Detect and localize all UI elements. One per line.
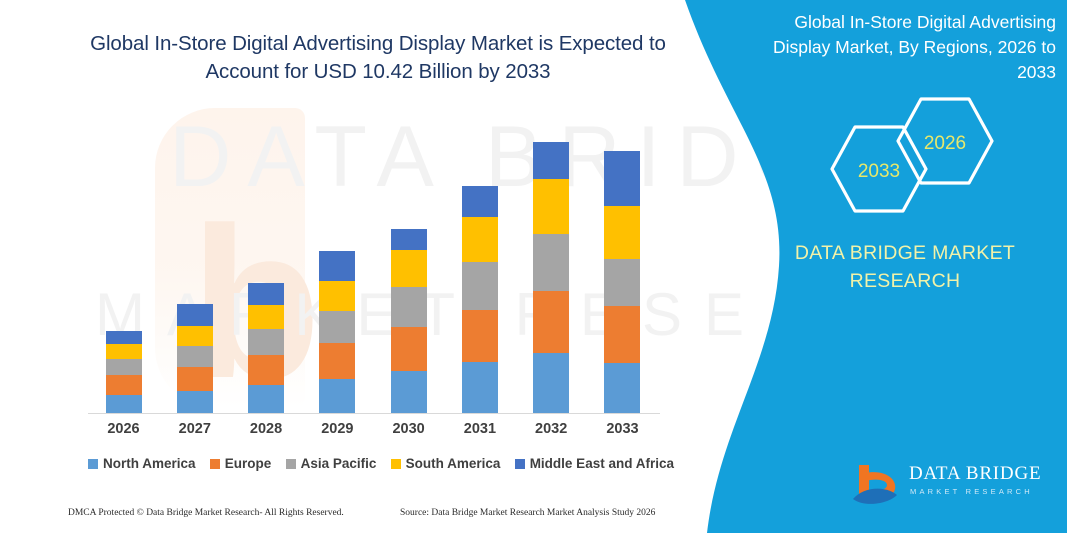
brand-name: DATA BRIDGE MARKET RESEARCH — [775, 239, 1035, 296]
x-axis-tick-label: 2030 — [373, 421, 444, 437]
chart-infographic: b DATA BRIDGE MARKET RESEARCH Global In-… — [0, 0, 1067, 533]
bar-segment — [319, 251, 355, 281]
legend-label: South America — [406, 456, 501, 471]
bar-segment — [604, 206, 640, 259]
bar-stack — [604, 151, 640, 413]
x-axis-tick-label: 2027 — [159, 421, 230, 437]
x-axis-tick-label: 2032 — [516, 421, 587, 437]
legend-swatch-icon — [515, 459, 525, 469]
bar-segment — [177, 367, 213, 391]
bar-segment — [177, 304, 213, 326]
bar-segment — [604, 151, 640, 206]
bar-column — [302, 110, 373, 413]
footer-source: Source: Data Bridge Market Research Mark… — [400, 508, 655, 518]
hexagon-group: 2026 2033 — [821, 94, 1031, 209]
bar-segment — [391, 287, 427, 327]
bar-segment — [462, 362, 498, 413]
bar-segment — [319, 343, 355, 379]
bar-segment — [319, 379, 355, 413]
chart-pane: b DATA BRIDGE MARKET RESEARCH Global In-… — [0, 0, 730, 533]
bar-column — [231, 110, 302, 413]
bar-column — [516, 110, 587, 413]
bar-segment — [533, 291, 569, 353]
bar-stack — [177, 304, 213, 413]
footer-copyright: DMCA Protected © Data Bridge Market Rese… — [68, 508, 344, 518]
legend-label: Middle East and Africa — [530, 456, 674, 471]
bar-segment — [248, 305, 284, 329]
bar-segment — [248, 283, 284, 305]
bar-segment — [462, 186, 498, 217]
chart-title: Global In-Store Digital Advertising Disp… — [58, 30, 698, 85]
legend-label: North America — [103, 456, 196, 471]
hexagon-2033: 2033 — [827, 122, 931, 221]
legend-swatch-icon — [286, 459, 296, 469]
bar-stack — [533, 142, 569, 413]
legend-label: Europe — [225, 456, 272, 471]
bar-segment — [106, 375, 142, 395]
bar-segment — [604, 259, 640, 306]
legend-swatch-icon — [88, 459, 98, 469]
bar-segment — [391, 250, 427, 287]
bar-column — [373, 110, 444, 413]
bar-column — [444, 110, 515, 413]
bar-segment — [462, 217, 498, 262]
bar-segment — [319, 281, 355, 311]
bar-segment — [248, 355, 284, 385]
panel-title: Global In-Store Digital Advertising Disp… — [766, 10, 1056, 85]
company-logo: DATA BRIDGE MARKET RESEARCH — [851, 457, 1051, 509]
x-axis-tick-label: 2029 — [302, 421, 373, 437]
bar-segment — [604, 306, 640, 363]
bar-segment — [106, 359, 142, 375]
bar-stack — [391, 229, 427, 413]
legend-item[interactable]: Middle East and Africa — [515, 456, 674, 471]
bar-segment — [533, 142, 569, 179]
legend-item[interactable]: South America — [391, 456, 501, 471]
legend-item[interactable]: North America — [88, 456, 196, 471]
bar-segment — [462, 310, 498, 362]
legend-swatch-icon — [210, 459, 220, 469]
bar-segment — [106, 344, 142, 359]
bar-segment — [248, 329, 284, 355]
bar-segment — [533, 234, 569, 291]
bar-segment — [462, 262, 498, 310]
bar-segment — [106, 331, 142, 344]
logo-text: DATA BRIDGE — [909, 463, 1041, 485]
bar-stack — [319, 251, 355, 413]
bar-segment — [533, 353, 569, 413]
legend-label: Asia Pacific — [301, 456, 377, 471]
bar-segment — [391, 371, 427, 413]
bar-segment — [391, 229, 427, 250]
brand-line-1: DATA BRIDGE MARKET — [775, 239, 1035, 267]
legend-swatch-icon — [391, 459, 401, 469]
x-axis-tick-label: 2026 — [88, 421, 159, 437]
legend-item[interactable]: Asia Pacific — [286, 456, 377, 471]
brand-line-2: RESEARCH — [775, 267, 1035, 295]
bar-segment — [177, 346, 213, 367]
bar-segment — [319, 311, 355, 343]
hexagon-2033-label: 2033 — [827, 161, 931, 183]
bar-chart-plot — [88, 110, 658, 413]
x-axis-line — [88, 413, 660, 414]
bar-column — [159, 110, 230, 413]
data-bridge-logo-icon — [851, 459, 903, 507]
x-axis-tick-label: 2033 — [587, 421, 658, 437]
bar-segment — [391, 327, 427, 371]
x-axis-tick-label: 2031 — [444, 421, 515, 437]
x-axis-tick-label: 2028 — [231, 421, 302, 437]
chart-legend: North AmericaEuropeAsia PacificSouth Ame… — [88, 456, 674, 471]
bar-column — [88, 110, 159, 413]
x-axis-labels: 20262027202820292030203120322033 — [88, 421, 658, 437]
bar-segment — [604, 363, 640, 413]
bar-segment — [177, 326, 213, 346]
bar-stack — [248, 283, 284, 413]
brand-panel: Global In-Store Digital Advertising Disp… — [667, 0, 1067, 533]
bar-segment — [106, 395, 142, 413]
legend-item[interactable]: Europe — [210, 456, 272, 471]
bar-stack — [106, 331, 142, 413]
logo-subtitle: MARKET RESEARCH — [910, 487, 1033, 496]
bar-stack — [462, 186, 498, 413]
bar-segment — [177, 391, 213, 413]
bar-segment — [533, 179, 569, 234]
bar-column — [587, 110, 658, 413]
bar-segment — [248, 385, 284, 413]
